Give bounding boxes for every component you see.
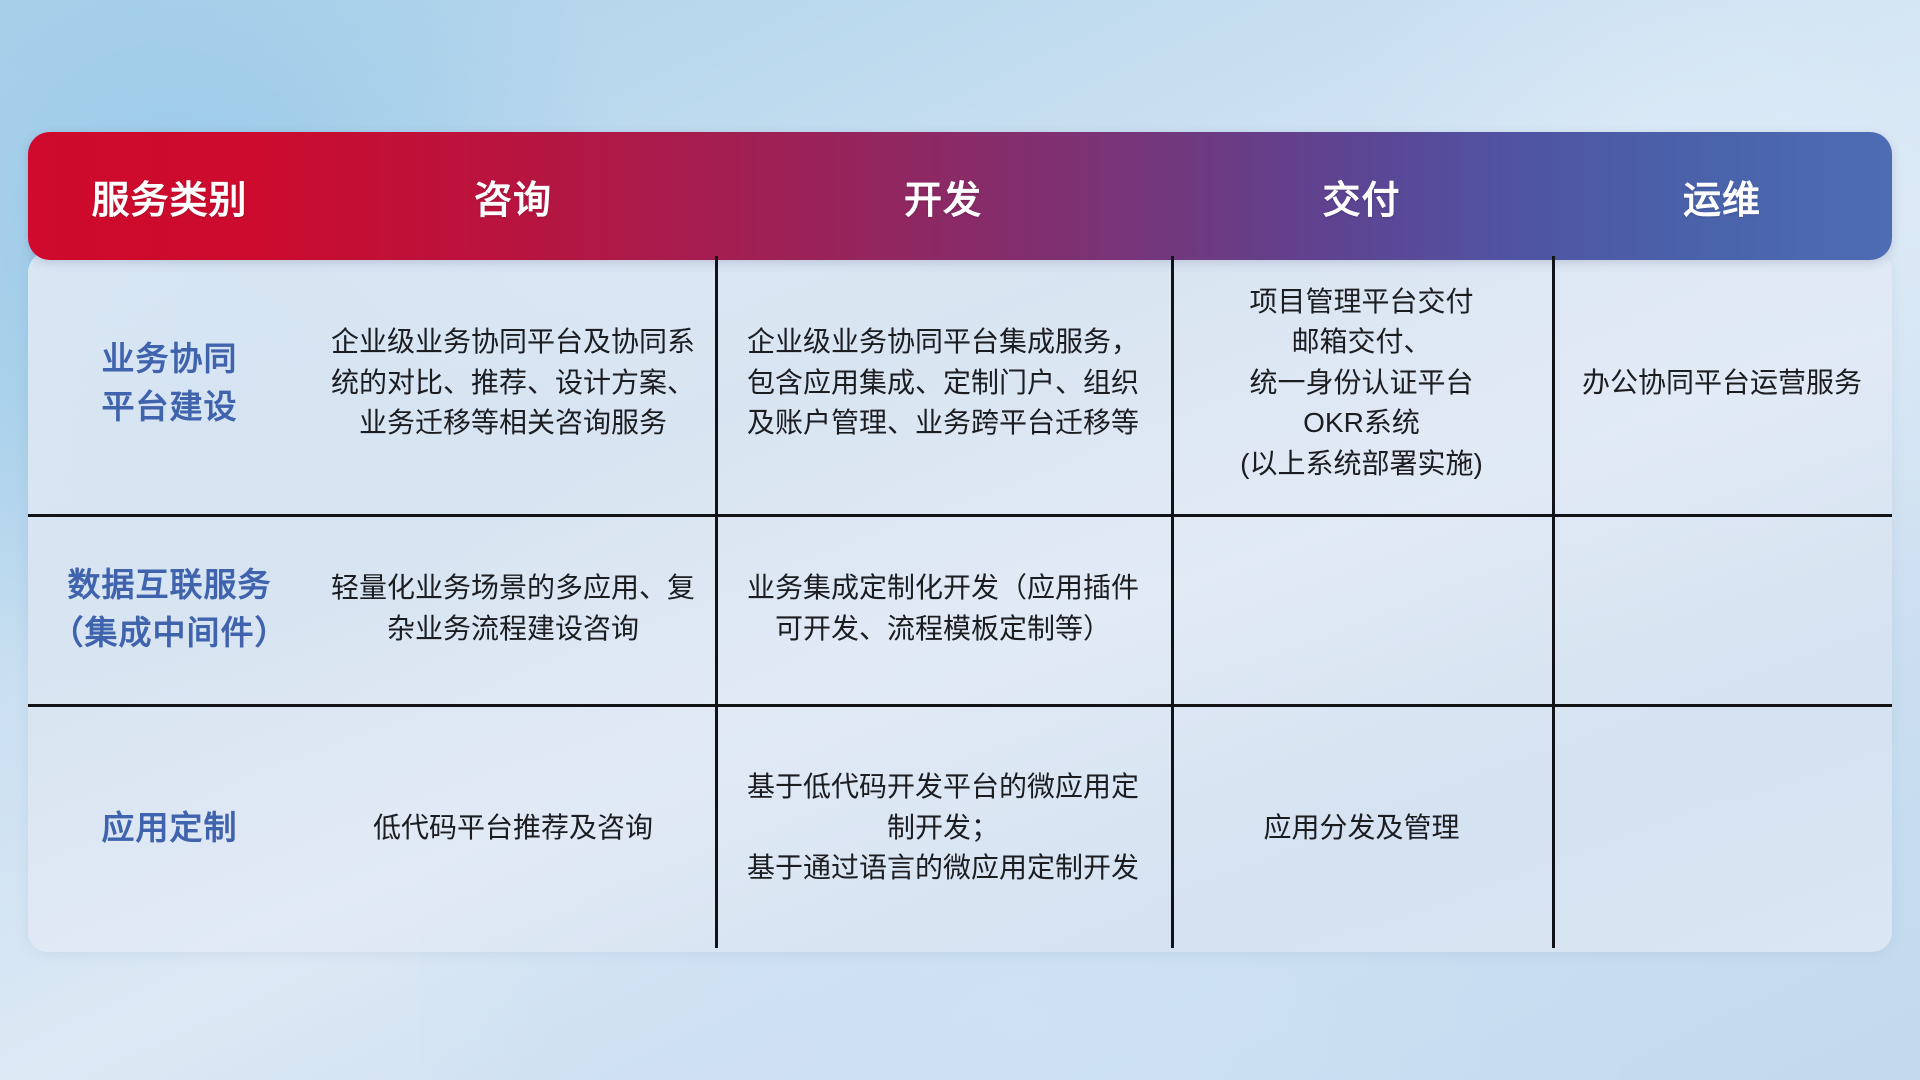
cell-category: 应用定制 <box>28 704 311 952</box>
column-header-service-category: 服务类别 <box>28 169 311 224</box>
table-row: 业务协同平台建设 企业级业务协同平台及协同系统的对比、推荐、设计方案、业务迁移等… <box>28 252 1892 514</box>
cell-development: 业务集成定制化开发（应用插件可开发、流程模板定制等） <box>715 514 1171 704</box>
cell-consulting: 企业级业务协同平台及协同系统的对比、推荐、设计方案、业务迁移等相关咨询服务 <box>311 252 715 514</box>
column-header-delivery: 交付 <box>1171 169 1552 224</box>
cell-delivery: 项目管理平台交付邮箱交付、统一身份认证平台OKR系统(以上系统部署实施) <box>1171 252 1552 514</box>
cell-category: 业务协同平台建设 <box>28 252 311 514</box>
table-body: 业务协同平台建设 企业级业务协同平台及协同系统的对比、推荐、设计方案、业务迁移等… <box>28 252 1892 952</box>
service-matrix-table: 服务类别 咨询 开发 交付 运维 业务协同平台建设 企业级业务协同平台及协同系统… <box>28 132 1892 952</box>
column-header-consulting: 咨询 <box>311 169 715 224</box>
cell-development: 企业级业务协同平台集成服务，包含应用集成、定制门户、组织及账户管理、业务跨平台迁… <box>715 252 1171 514</box>
cell-delivery <box>1171 514 1552 704</box>
cell-development: 基于低代码开发平台的微应用定制开发；基于通过语言的微应用定制开发 <box>715 704 1171 952</box>
cell-delivery: 应用分发及管理 <box>1171 704 1552 952</box>
cell-operations <box>1552 704 1892 952</box>
cell-consulting: 低代码平台推荐及咨询 <box>311 704 715 952</box>
column-header-development: 开发 <box>715 169 1171 224</box>
table-row: 数据互联服务（集成中间件） 轻量化业务场景的多应用、复杂业务流程建设咨询 业务集… <box>28 514 1892 704</box>
cell-operations: 办公协同平台运营服务 <box>1552 252 1892 514</box>
column-header-operations: 运维 <box>1552 169 1892 224</box>
cell-consulting: 轻量化业务场景的多应用、复杂业务流程建设咨询 <box>311 514 715 704</box>
cell-category: 数据互联服务（集成中间件） <box>28 514 311 704</box>
cell-operations <box>1552 514 1892 704</box>
table-header-row: 服务类别 咨询 开发 交付 运维 <box>28 132 1892 260</box>
table-row: 应用定制 低代码平台推荐及咨询 基于低代码开发平台的微应用定制开发；基于通过语言… <box>28 704 1892 952</box>
